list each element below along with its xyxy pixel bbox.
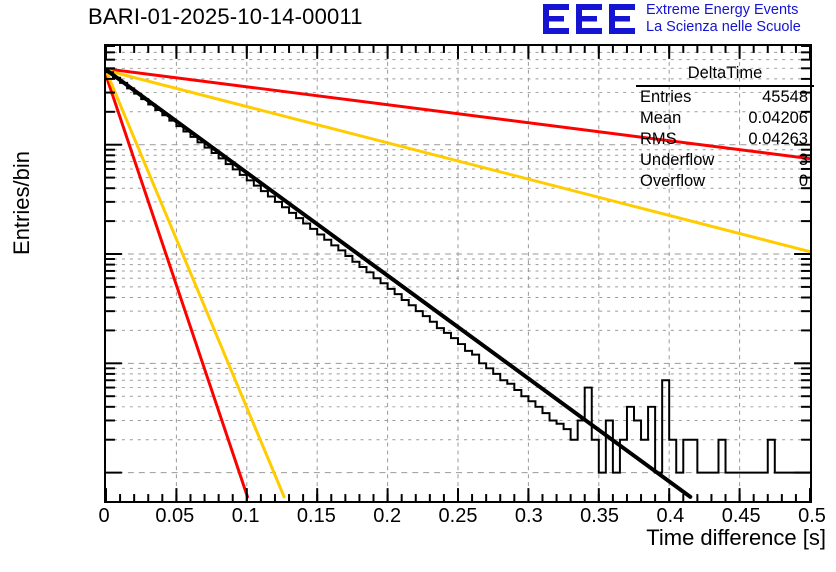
x-tick-label: 0.45 (722, 505, 761, 528)
x-tick-label: 0.2 (373, 505, 401, 528)
stats-value: 0.04206 (748, 109, 814, 129)
x-tick-label: 0.3 (515, 505, 543, 528)
y-axis-title: Entries/bin (9, 103, 35, 303)
eee-logo-mark (543, 4, 640, 34)
stats-key: Underflow (636, 151, 714, 171)
x-axis-title: Time difference [s] (426, 525, 826, 551)
x-tick-label: 0.35 (580, 505, 619, 528)
stats-key: RMS (636, 130, 677, 150)
stats-value: 45548 (762, 88, 814, 108)
x-tick-label: 0.1 (232, 505, 260, 528)
page-title: BARI-01-2025-10-14-00011 (88, 4, 363, 30)
stats-title: DeltaTime (636, 64, 814, 87)
x-tick-label: 0.25 (439, 505, 478, 528)
eee-logo: Extreme Energy Events La Scienza nelle S… (543, 2, 833, 38)
stats-key: Mean (636, 109, 681, 129)
stats-key: Entries (636, 88, 691, 108)
x-tick-label: 0.5 (798, 505, 826, 528)
eee-logo-text: Extreme Energy Events La Scienza nelle S… (646, 2, 836, 36)
stats-rows: Entries45548Mean0.04206RMS0.04263Underfl… (636, 87, 814, 192)
x-tick-label: 0.15 (297, 505, 336, 528)
stats-row: Mean0.04206 (636, 108, 814, 129)
stats-row: Entries45548 (636, 87, 814, 108)
stats-key: Overflow (636, 172, 705, 192)
stats-value: 0.04263 (748, 130, 814, 150)
stats-value: 3 (799, 151, 814, 171)
stats-row: Underflow3 (636, 150, 814, 171)
x-tick-label: 0.05 (155, 505, 194, 528)
stats-box: DeltaTime Entries45548Mean0.04206RMS0.04… (636, 64, 814, 192)
chart-page: BARI-01-2025-10-14-00011 Extreme Energy … (0, 0, 836, 572)
x-tick-label: 0 (98, 505, 109, 528)
stats-row: RMS0.04263 (636, 129, 814, 150)
stats-value: 0 (799, 172, 814, 192)
eee-logo-line2: La Scienza nelle Scuole (646, 19, 836, 36)
eee-logo-line1: Extreme Energy Events (646, 2, 836, 19)
stats-row: Overflow0 (636, 171, 814, 192)
x-tick-label: 0.4 (656, 505, 684, 528)
